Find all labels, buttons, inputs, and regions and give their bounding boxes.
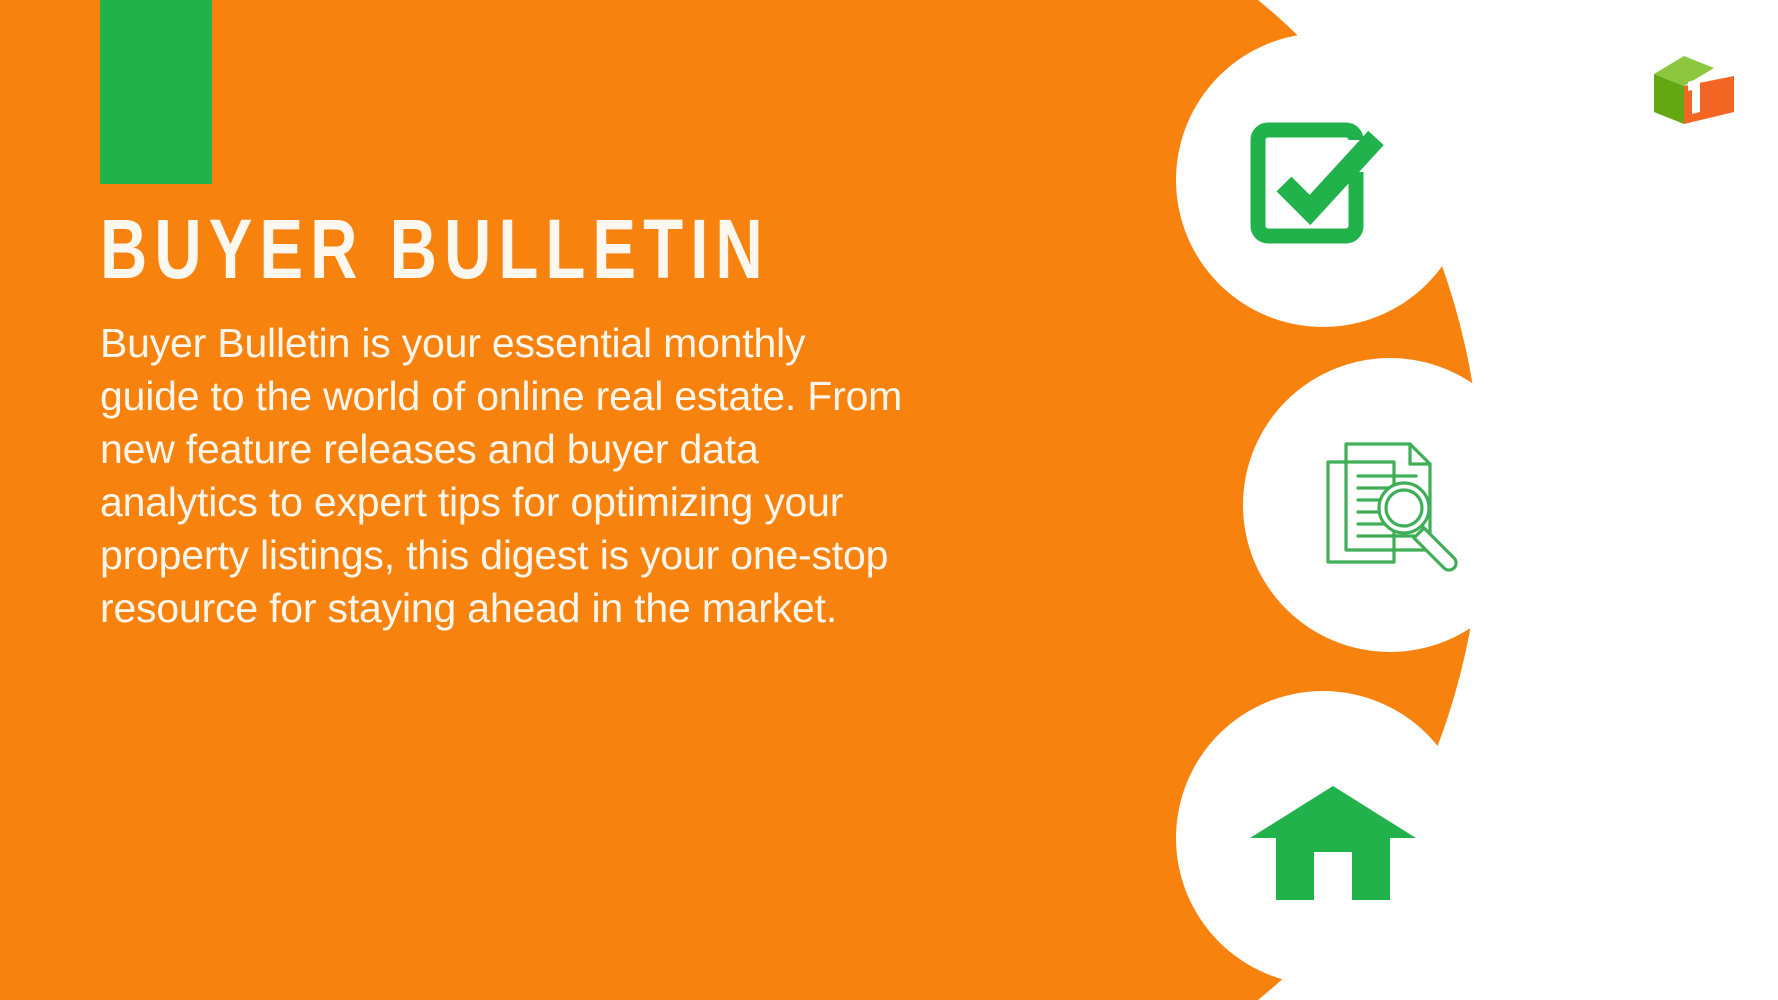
document-search-icon (1318, 432, 1488, 582)
green-accent-bar (100, 0, 212, 184)
text-block: BUYER BULLETIN Buyer Bulletin is your es… (100, 205, 980, 635)
checkbox-checked-icon (1240, 112, 1400, 252)
body-paragraph: Buyer Bulletin is your essential monthly… (100, 317, 930, 635)
house-icon (1248, 780, 1418, 910)
slide-canvas: BUYER BULLETIN Buyer Bulletin is your es… (0, 0, 1778, 1000)
body-line: guide to the world of online real estate… (100, 370, 930, 423)
isometric-house-logo[interactable] (1648, 46, 1740, 128)
body-line: Buyer Bulletin is your essential monthly (100, 317, 930, 370)
page-title: BUYER BULLETIN (100, 205, 786, 293)
body-line: new feature releases and buyer data (100, 423, 930, 476)
body-line: property listings, this digest is your o… (100, 529, 930, 582)
body-line: resource for staying ahead in the market… (100, 582, 930, 635)
body-line: analytics to expert tips for optimizing … (100, 476, 930, 529)
